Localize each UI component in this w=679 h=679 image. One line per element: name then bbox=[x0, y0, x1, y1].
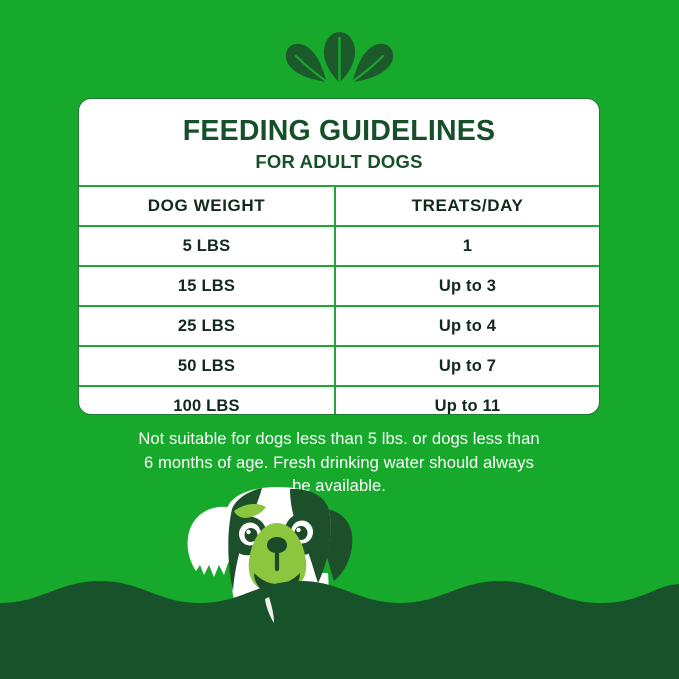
dark-green-hill bbox=[0, 581, 679, 679]
table-row: 25 LBS Up to 4 bbox=[79, 307, 599, 347]
disclaimer-line-2: 6 months of age. Fresh drinking water sh… bbox=[78, 451, 600, 475]
cell-dog-weight: 15 LBS bbox=[79, 267, 336, 305]
table-row: 5 LBS 1 bbox=[79, 227, 599, 267]
column-header-dog-weight: DOG WEIGHT bbox=[79, 187, 336, 225]
cell-treats-day: Up to 3 bbox=[336, 267, 599, 305]
cell-dog-weight: 5 LBS bbox=[79, 227, 336, 265]
sprout-leaves-logo bbox=[283, 32, 396, 84]
card-header: FEEDING GUIDELINES FOR ADULT DOGS bbox=[79, 99, 599, 187]
table-row: 50 LBS Up to 7 bbox=[79, 347, 599, 387]
cell-treats-day: Up to 4 bbox=[336, 307, 599, 345]
page-subtitle: FOR ADULT DOGS bbox=[79, 151, 599, 173]
page-title: FEEDING GUIDELINES bbox=[79, 116, 599, 147]
cell-dog-weight: 25 LBS bbox=[79, 307, 336, 345]
column-header-treats-day: TREATS/DAY bbox=[336, 187, 599, 225]
feeding-guidelines-card: FEEDING GUIDELINES FOR ADULT DOGS DOG WE… bbox=[78, 98, 600, 415]
table-row: 100 LBS Up to 11 bbox=[79, 387, 599, 415]
cell-treats-day: Up to 7 bbox=[336, 347, 599, 385]
feeding-guidelines-graphic: FEEDING GUIDELINES FOR ADULT DOGS DOG WE… bbox=[0, 0, 679, 679]
cell-dog-weight: 50 LBS bbox=[79, 347, 336, 385]
dog-peeking-over-hill-illustration bbox=[0, 485, 679, 679]
feeding-table: DOG WEIGHT TREATS/DAY 5 LBS 1 15 LBS Up … bbox=[79, 187, 599, 415]
cell-treats-day: Up to 11 bbox=[336, 387, 599, 415]
cell-treats-day: 1 bbox=[336, 227, 599, 265]
cell-dog-weight: 100 LBS bbox=[79, 387, 336, 415]
table-header-row: DOG WEIGHT TREATS/DAY bbox=[79, 187, 599, 227]
disclaimer-line-1: Not suitable for dogs less than 5 lbs. o… bbox=[78, 427, 600, 451]
table-row: 15 LBS Up to 3 bbox=[79, 267, 599, 307]
